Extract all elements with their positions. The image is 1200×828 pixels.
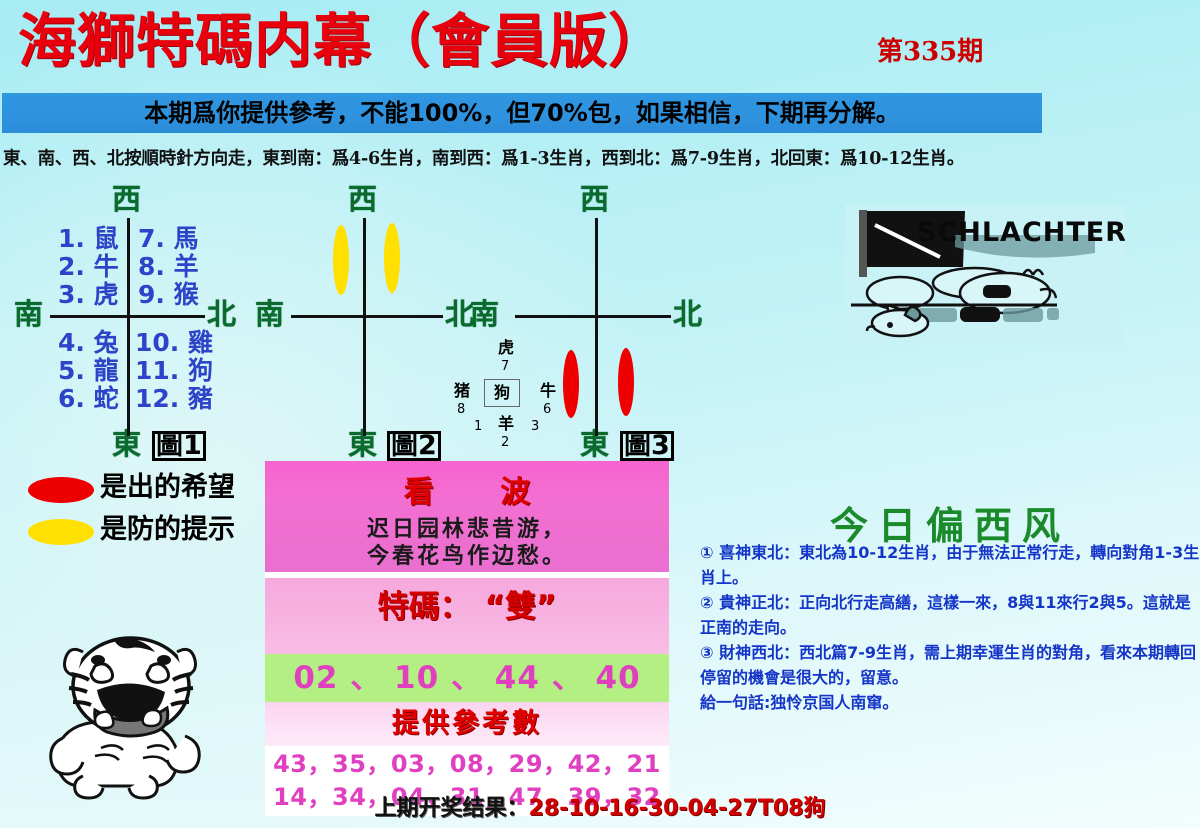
fig1-left-row-6: 6. 蛇 bbox=[58, 386, 119, 411]
reference-title-section: 提供參考數 bbox=[265, 702, 669, 746]
cluster-bottom-animal: 羊 bbox=[498, 416, 514, 432]
fig1-horizontal-axis bbox=[50, 315, 205, 318]
rule-line: 東、南、西、北按順時針方向走，東到南：爲4-6生肖，南到西：爲1-3生肖，西到北… bbox=[3, 145, 1197, 170]
fig1-label: 圖1 bbox=[152, 431, 208, 461]
fig3-label-text: 圖3 bbox=[620, 431, 674, 461]
fig3-label: 圖3 bbox=[620, 431, 676, 461]
fig2-dir-south: 南 bbox=[255, 300, 284, 329]
page-title: 海獅特碼内幕（會員版） bbox=[18, 10, 667, 72]
fig1-right-row-5: 11. 狗 bbox=[135, 358, 213, 383]
tema-label: 特碼： bbox=[378, 589, 471, 625]
fig1-right-row-3: 9. 猴 bbox=[138, 282, 199, 307]
green-numbers-section: 02 、 10 、 44 、 40 bbox=[265, 654, 669, 702]
banner-bar: 本期爲你提供參考，不能100%，但70%包，如果相信，下期再分解。 bbox=[2, 93, 1042, 133]
tema-section: 特碼：“雙” bbox=[265, 578, 669, 654]
green-numbers: 02 、 10 、 44 、 40 bbox=[265, 654, 669, 702]
fig2-vertical-axis bbox=[363, 218, 366, 436]
poem-line-1: 迟日园林悲昔游， bbox=[265, 516, 669, 543]
fig1-dir-west: 西 bbox=[112, 185, 141, 214]
cluster-right-num: 6 bbox=[543, 403, 551, 416]
issue-number: 第335期 bbox=[877, 31, 983, 68]
fig2-dir-west: 西 bbox=[348, 185, 377, 214]
fig3-dir-south: 南 bbox=[470, 300, 499, 329]
red-oval-icon bbox=[28, 477, 94, 503]
cartoon-tiger-mascot-icon bbox=[35, 630, 225, 810]
poster-root: 海獅特碼内幕（會員版） 第335期 本期爲你提供參考，不能100%，但70%包，… bbox=[0, 0, 1200, 828]
cluster-top-num: 7 bbox=[501, 360, 509, 373]
fig2-label: 圖2 bbox=[387, 431, 443, 461]
fig3-horizontal-axis bbox=[515, 315, 671, 318]
fig2-label-text: 圖2 bbox=[387, 431, 441, 461]
fig1-right-row-1: 7. 馬 bbox=[138, 226, 199, 251]
cluster-left-num: 8 bbox=[457, 403, 465, 416]
fig1-left-row-4: 4. 兔 bbox=[58, 330, 119, 355]
cluster-bottom-num: 2 bbox=[501, 436, 509, 449]
note-2: ② 貴神正北：正向北行走高繕，這樣一來，8與11來行2與5。這就是正南的走向。 bbox=[700, 590, 1200, 640]
tema-row: 特碼：“雙” bbox=[265, 578, 669, 636]
fig1-right-row-2: 8. 羊 bbox=[138, 254, 199, 279]
fig1-left-row-1: 1. 鼠 bbox=[58, 226, 119, 251]
fig1-left-row-3: 3. 虎 bbox=[58, 282, 119, 307]
fig1-right-row-6: 12. 豬 bbox=[135, 386, 213, 411]
kanbo-title: 看 波 bbox=[265, 461, 669, 511]
note-3: ③ 財神西北：西北篇7-9生肖，需上期幸運生肖的對角，看來本期轉回停留的機會是很… bbox=[700, 640, 1200, 690]
cluster-right-animal: 牛 bbox=[540, 383, 556, 399]
fig3-dir-west: 西 bbox=[580, 185, 609, 214]
butcher-shop-pig-cartoon-icon: SCHLACHTER bbox=[845, 205, 1125, 345]
banner-text: 本期爲你提供參考，不能100%，但70%包，如果相信，下期再分解。 bbox=[2, 93, 1042, 133]
kanbo-section: 看 波 迟日园林悲昔游， 今春花鸟作边愁。 bbox=[265, 461, 669, 572]
prediction-panel: 看 波 迟日园林悲昔游， 今春花鸟作边愁。 特碼：“雙” 02 、 10 、 4… bbox=[265, 461, 669, 828]
cluster-top-animal: 虎 bbox=[498, 340, 514, 356]
fig1-dir-north: 北 bbox=[207, 300, 236, 329]
fig1-right-row-4: 10. 雞 bbox=[135, 330, 213, 355]
fig1-dir-south: 南 bbox=[14, 300, 43, 329]
poem-line-2: 今春花鸟作边愁。 bbox=[265, 543, 669, 570]
fig1-vertical-axis bbox=[127, 218, 130, 436]
yellow-oval-icon bbox=[28, 519, 94, 545]
fig3-marker-red-2 bbox=[618, 348, 634, 416]
fig2-marker-yellow-1 bbox=[333, 225, 349, 295]
last-result-label: 上期开奖结果： bbox=[375, 796, 529, 821]
fig1-label-text: 圖1 bbox=[152, 431, 206, 461]
cluster-corner-left-num: 1 bbox=[474, 420, 482, 433]
fig2-marker-yellow-2 bbox=[384, 223, 400, 293]
forecast-notes: ① 喜神東北：東北為10-12生肖，由于無法正常行走，轉向對角1-3生肖上。 ②… bbox=[700, 540, 1200, 715]
figure-2: 西 南 北 東 圖2 bbox=[255, 185, 455, 460]
cluster-corner-right-num: 3 bbox=[531, 420, 539, 433]
reference-title: 提供參考數 bbox=[265, 702, 669, 746]
fig1-left-row-5: 5. 龍 bbox=[58, 358, 119, 383]
legend-yellow-label: 是防的提示 bbox=[100, 516, 235, 543]
cluster-left-animal: 猪 bbox=[454, 383, 470, 399]
figure-1: 西 南 北 東 1. 鼠 2. 牛 3. 虎 4. 兔 5. 龍 6. 蛇 7.… bbox=[0, 185, 250, 460]
svg-text:SCHLACHTER: SCHLACHTER bbox=[917, 217, 1125, 248]
note-1: ① 喜神東北：東北為10-12生肖，由于無法正常行走，轉向對角1-3生肖上。 bbox=[700, 540, 1200, 590]
tiger-mascot bbox=[35, 630, 225, 810]
butcher-shop-photo: SCHLACHTER bbox=[845, 205, 1125, 345]
fig2-horizontal-axis bbox=[291, 315, 443, 318]
fig3-dir-north: 北 bbox=[673, 300, 702, 329]
tema-value: “雙” bbox=[485, 589, 557, 625]
fig1-left-row-2: 2. 牛 bbox=[58, 254, 119, 279]
reference-row-1: 43，35，03，08，29，42，21 bbox=[265, 746, 669, 781]
last-result-value: 28-10-16-30-04-27T08狗 bbox=[529, 796, 826, 821]
zodiac-cluster: 虎 7 猪 8 狗 牛 6 1 羊 2 3 bbox=[452, 340, 572, 460]
note-4: 給一句話:独怜京国人南窜。 bbox=[700, 690, 1200, 715]
legend-red-label: 是出的希望 bbox=[100, 474, 235, 501]
fig3-vertical-axis bbox=[595, 218, 598, 436]
cluster-center-animal: 狗 bbox=[484, 379, 520, 407]
